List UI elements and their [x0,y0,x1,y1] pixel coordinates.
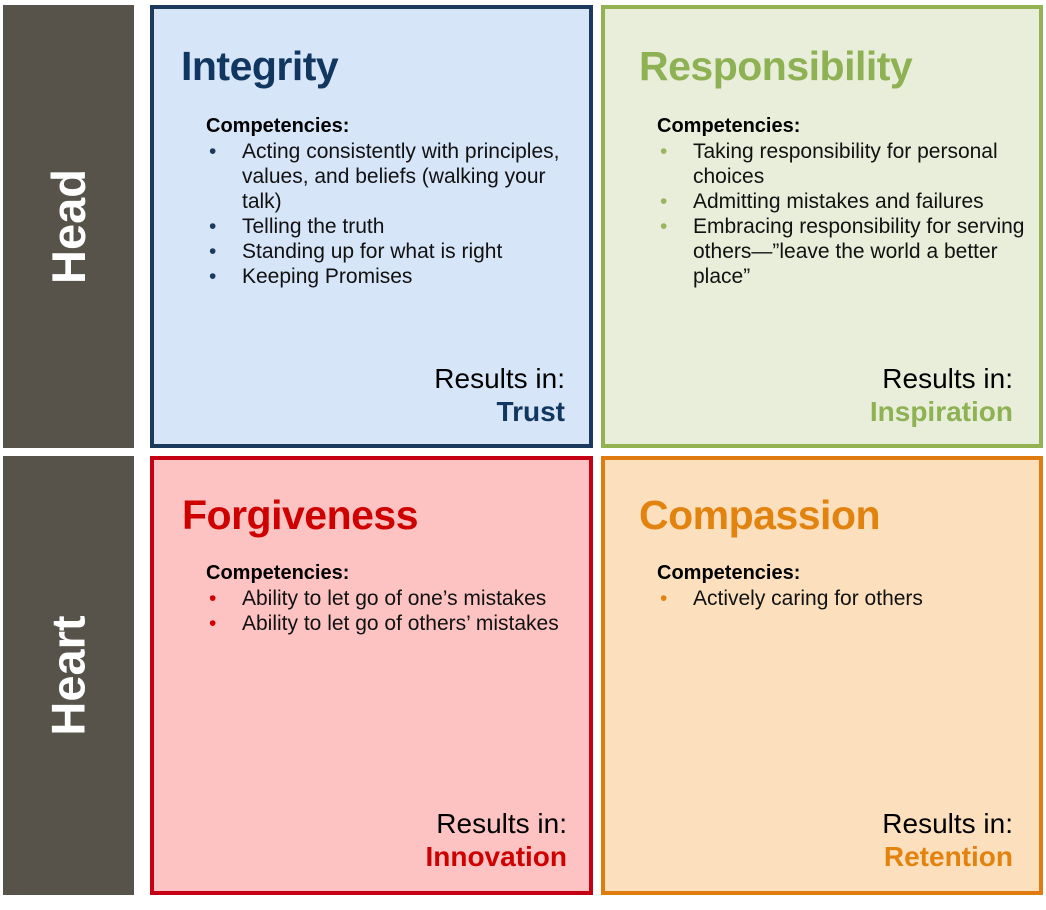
quadrant-responsibility-competencies: Competencies: • Taking responsibility fo… [657,115,1033,289]
results-value: Innovation [425,840,567,873]
bullet-icon: • [209,239,216,264]
bullet-icon: • [209,214,216,239]
axis-row-heart: Heart [3,456,134,895]
bullet-icon: • [660,189,667,214]
list-item-label: Telling the truth [242,215,384,238]
bullet-icon: • [209,586,216,611]
quadrant-forgiveness: Forgiveness Competencies: • Ability to l… [150,456,593,895]
competencies-list: • Taking responsibility for personal cho… [657,139,1033,289]
list-item: • Ability to let go of one’s mistakes [206,586,578,611]
quadrant-forgiveness-title: Forgiveness [182,492,418,539]
results-value: Trust [434,395,565,428]
list-item-label: Ability to let go of others’ mistakes [242,612,559,635]
bullet-icon: • [209,139,216,164]
quadrant-responsibility-results: Results in: Inspiration [870,362,1013,428]
quadrant-compassion-title: Compassion [639,492,880,539]
list-item-label: Actively caring for others [693,587,923,610]
results-label: Results in: [434,362,565,395]
list-item: • Acting consistently with principles, v… [206,139,578,214]
list-item: • Taking responsibility for personal cho… [657,139,1033,189]
list-item-label: Ability to let go of one’s mistakes [242,587,546,610]
results-label: Results in: [870,362,1013,395]
results-value: Retention [882,840,1013,873]
competencies-list: • Ability to let go of one’s mistakes • … [206,586,578,636]
list-item: • Telling the truth [206,214,578,239]
quadrant-responsibility-title: Responsibility [639,43,912,90]
list-item-label: Admitting mistakes and failures [693,190,984,213]
bullet-icon: • [660,586,667,611]
leadership-values-matrix: Head Heart Integrity Competencies: • Act… [0,0,1046,910]
competencies-list: • Acting consistently with principles, v… [206,139,578,289]
bullet-icon: • [209,264,216,289]
list-item: • Admitting mistakes and failures [657,189,1033,214]
list-item-label: Taking responsibility for personal choic… [693,140,998,188]
list-item: • Keeping Promises [206,264,578,289]
list-item-label: Embracing responsibility for serving oth… [693,215,1024,288]
results-label: Results in: [882,807,1013,840]
competencies-heading: Competencies: [206,115,578,138]
bullet-icon: • [209,611,216,636]
quadrant-compassion-competencies: Competencies: • Actively caring for othe… [657,562,1033,611]
quadrant-integrity: Integrity Competencies: • Acting consist… [150,5,593,448]
list-item: • Ability to let go of others’ mistakes [206,611,578,636]
competencies-heading: Competencies: [657,562,1033,585]
quadrant-integrity-title: Integrity [181,43,338,90]
quadrant-responsibility: Responsibility Competencies: • Taking re… [601,5,1043,448]
competencies-heading: Competencies: [657,115,1033,138]
quadrant-forgiveness-results: Results in: Innovation [425,807,567,873]
quadrant-forgiveness-competencies: Competencies: • Ability to let go of one… [206,562,578,636]
list-item: • Actively caring for others [657,586,1033,611]
results-value: Inspiration [870,395,1013,428]
quadrant-integrity-results: Results in: Trust [434,362,565,428]
list-item-label: Standing up for what is right [242,240,502,263]
bullet-icon: • [660,139,667,164]
list-item: • Embracing responsibility for serving o… [657,214,1033,289]
quadrant-integrity-competencies: Competencies: • Acting consistently with… [206,115,578,289]
axis-row-heart-label: Heart [41,615,96,735]
list-item: • Standing up for what is right [206,239,578,264]
competencies-heading: Competencies: [206,562,578,585]
competencies-list: • Actively caring for others [657,586,1033,611]
quadrant-compassion-results: Results in: Retention [882,807,1013,873]
axis-row-head-label: Head [41,169,96,284]
list-item-label: Keeping Promises [242,265,412,288]
quadrant-compassion: Compassion Competencies: • Actively cari… [601,456,1043,895]
bullet-icon: • [660,214,667,239]
list-item-label: Acting consistently with principles, val… [242,140,559,213]
axis-row-head: Head [3,5,134,448]
results-label: Results in: [425,807,567,840]
